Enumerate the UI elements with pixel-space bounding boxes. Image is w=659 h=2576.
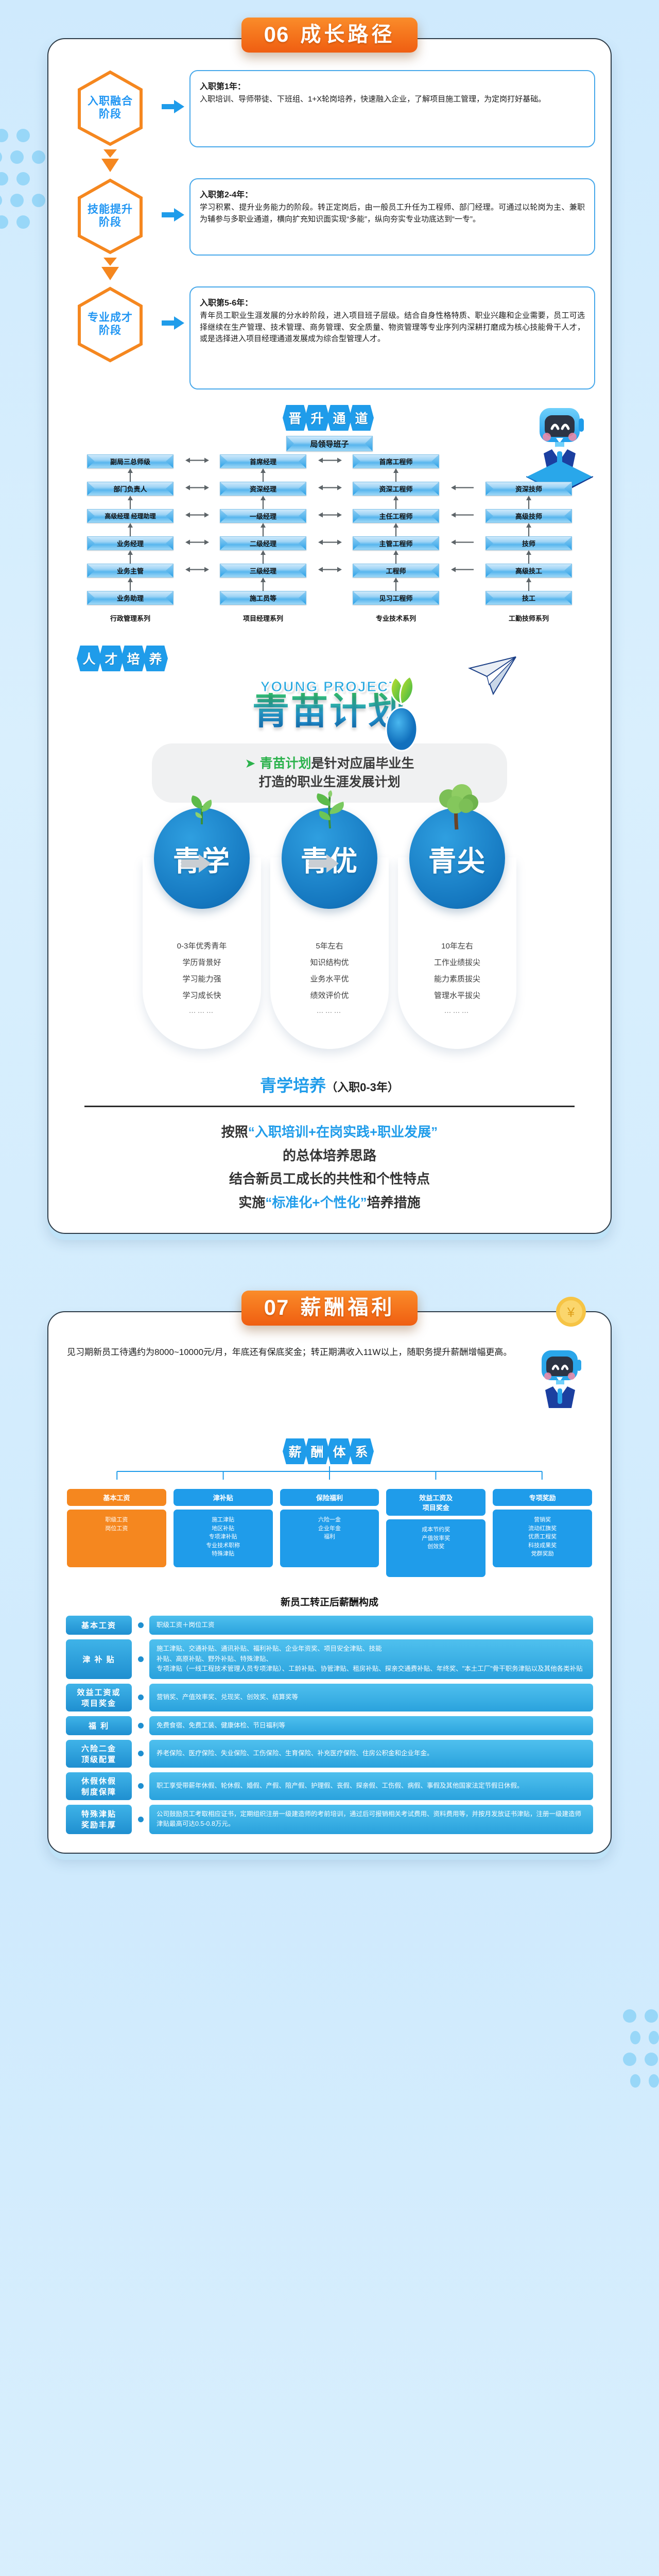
ladder-row: 高级经理 经理助理 一级经理 主任工程师 高级技师 <box>64 509 595 523</box>
ladder-cell: 业务主管 <box>64 564 197 578</box>
section-06-badge-wrap: 06 成长路径 <box>0 18 659 53</box>
stage-1-heading: 入职第1年： <box>200 79 585 92</box>
table-row-label: 休假休假 制度保障 <box>66 1772 132 1800</box>
qingxue-line1-highlight: “入职培训+在岗实践+职业发展” <box>248 1124 438 1140</box>
ladder-box: 副局三总师级 <box>87 454 174 468</box>
table-row: 津 补 贴 施工津贴、交通补贴、通讯补贴、福利补贴、企业年资奖、项目安全津贴、技… <box>66 1639 593 1679</box>
ladder-rows: 副局三总师级 首席经理 <box>64 454 595 605</box>
stage-1-text-box: 入职第1年： 入职培训、导师带徒、下班组、1+X轮岗培养，快速融入企业，了解项目… <box>189 70 595 147</box>
stage-2-text-box: 入职第2-4年： 学习积累、提升业务能力的阶段。转正定岗后，由一般员工升任为工程… <box>189 178 595 256</box>
ladder-box: 二级经理 <box>220 536 306 550</box>
hexagon-badge-1-label: 入职融合 阶段 <box>88 95 133 121</box>
hexagon-badge-2: 技能提升 阶段 <box>76 178 144 255</box>
stage-3-name-line1: 专业成才 <box>88 312 133 324</box>
chip-char: 通 <box>327 405 352 431</box>
pay-table-title: 新员工转正后薪酬构成 <box>64 1595 595 1608</box>
ladder-box: 首席工程师 <box>353 454 439 468</box>
ladder-connector-up <box>462 496 595 509</box>
level-line: 管理水平拔尖 <box>403 990 511 1001</box>
ladder-box: 主管工程师 <box>353 536 439 550</box>
quote-highlight: 青苗计划 <box>259 756 311 771</box>
ladder-connector-up <box>329 550 462 564</box>
level-line: 5年左右 <box>275 940 384 951</box>
ladder-cell: 部门负责人 <box>64 482 197 496</box>
ladder-connector-up <box>64 496 197 509</box>
chip-char: 升 <box>305 405 329 431</box>
bullet-dot-icon <box>138 1817 144 1822</box>
qingxue-heading: 青学培养（入职0-3年） <box>64 1073 595 1096</box>
table-row: 基本工资 职级工资＋岗位工资 <box>66 1616 593 1635</box>
qingxue-line-4: 实施“标准化+个性化”培养措施 <box>64 1191 595 1215</box>
section-growth-path: 06 成长路径 入职融合 阶段 <box>0 0 659 1234</box>
chevron-down-icon <box>101 267 119 280</box>
table-row-label: 津 补 贴 <box>66 1639 132 1679</box>
arrow-bullet-icon: ➤ <box>245 756 256 771</box>
talent-level-2: 青优 5年左右 知识结构优 业务水平优 绩效评价优 ……… <box>270 808 389 1049</box>
ladder-cell: 技师 <box>462 536 595 550</box>
stage-3-text-box: 入职第5-6年： 青年员工职业生涯发展的分水岭阶段，进入项目班子层级。结合自身性… <box>189 286 595 389</box>
arrow-up-icon <box>393 550 399 564</box>
chip-char: 培 <box>121 646 146 671</box>
seedling-svg <box>181 790 222 826</box>
qingxue-line4-highlight: “标准化+个性化” <box>265 1195 367 1210</box>
ladder-cell: 主任工程师 <box>329 509 462 523</box>
table-row: 特殊津贴 奖励丰厚 公司鼓励员工考取相应证书，定期组织注册一级建造师的考前培训，… <box>66 1805 593 1834</box>
pay-column: 效益工资及 项目奖金 成本节约奖 产值效率奖 创效奖 <box>386 1489 485 1577</box>
table-row-detail: 公司鼓励员工考取相应证书，定期组织注册一级建造师的考前培训，通过后可报销相关考试… <box>149 1805 593 1834</box>
section-salary-benefits: 07 薪酬福利 ¥ 见习期新员工待遇约为8000~10000元/月，年底还有保底… <box>0 1234 659 1874</box>
qingxue-line-1: 按照“入职培训+在岗实践+职业发展” <box>64 1121 595 1144</box>
ladder-cell: 高级技工 <box>462 564 595 578</box>
pay-column: 津补贴 施工津贴 地区补贴 专项津补贴 专业技术职称 特殊津贴 <box>174 1489 273 1577</box>
pay-column-caption: 保险福利 <box>280 1489 379 1506</box>
young-project-cn: 青苗计划 <box>64 693 595 730</box>
ladder-connector-up <box>462 523 595 536</box>
qingxue-line4-post: 培养措施 <box>367 1195 421 1210</box>
arrow-up-icon <box>393 496 399 509</box>
level-line: 0-3年优秀青年 <box>148 940 256 951</box>
arrow-up-icon <box>526 496 532 509</box>
sprout-icon <box>378 674 425 754</box>
ladder-box: 高级技师 <box>485 509 572 523</box>
pay-system-columns: 基本工资 职级工资 岗位工资 津补贴 施工津贴 地区补贴 专项津补贴 专业技术职… <box>64 1489 595 1577</box>
stage-2-heading: 入职第2-4年： <box>200 188 585 200</box>
level-line: 学历背景好 <box>148 957 256 968</box>
ladder-connector-up <box>64 523 197 536</box>
pay-column-caption: 津补贴 <box>174 1489 273 1506</box>
arrow-up-icon <box>393 468 399 482</box>
arrow-right-icon <box>181 853 211 874</box>
row-connector <box>132 1772 149 1800</box>
table-row: 福 利 免费食宿、免费工装、健康体检、节日福利等 <box>66 1716 593 1735</box>
row-connector <box>132 1684 149 1711</box>
qingxue-line1-pre: 按照 <box>221 1124 248 1140</box>
table-row-label: 六险二金 顶级配置 <box>66 1740 132 1768</box>
ladder-cell: 见习工程师 <box>329 591 462 605</box>
promotion-ladder: 局领导班子 副局三总师级 首席经理 <box>64 436 595 623</box>
ladder-connector-up <box>197 550 329 564</box>
quote-rest: 是针对应届毕业生 <box>311 756 414 771</box>
table-row-label: 福 利 <box>66 1716 132 1735</box>
ladder-connector-up <box>329 468 462 482</box>
level-line: 工作业绩拔尖 <box>403 957 511 968</box>
ladder-box: 工程师 <box>353 564 439 578</box>
arrow-right-icon <box>309 853 339 874</box>
divider <box>84 1106 575 1107</box>
ladder-cell: 施工员等 <box>197 591 329 605</box>
sprout-svg <box>378 674 425 752</box>
section-07-number: 07 <box>264 1297 289 1318</box>
chevron-down-icon <box>103 258 117 266</box>
footer-space <box>0 1854 659 1874</box>
ladder-box: 高级经理 经理助理 <box>87 509 174 523</box>
arrow-up-icon <box>127 523 133 536</box>
ladder-box: 见习工程师 <box>353 591 439 605</box>
tree-connector-svg <box>64 1466 595 1480</box>
ladder-gap-empty <box>462 468 595 482</box>
stage-3-heading: 入职第5-6年： <box>200 296 585 308</box>
stage-2-name-line1: 技能提升 <box>88 204 133 215</box>
ladder-gap-row <box>64 496 595 509</box>
ladder-cell: 高级技师 <box>462 509 595 523</box>
ladder-cell: 技工 <box>462 591 595 605</box>
coin-svg: ¥ <box>555 1296 587 1328</box>
ladder-box: 首席经理 <box>220 454 306 468</box>
salary-card: 见习期新员工待遇约为8000~10000元/月，年底还有保底奖金；转正期满收入1… <box>47 1311 612 1854</box>
ladder-connector-up <box>64 578 197 591</box>
ladder-box: 业务助理 <box>87 591 174 605</box>
level-line: 学习成长快 <box>148 990 256 1001</box>
ladder-box: 资深工程师 <box>353 482 439 496</box>
table-row-label: 特殊津贴 奖励丰厚 <box>66 1805 132 1834</box>
ladder-connector-up <box>329 523 462 536</box>
series-label: 项目经理系列 <box>197 613 329 623</box>
ladder-connector-up <box>462 578 595 591</box>
ladder-cell: 一级经理 <box>197 509 329 523</box>
ladder-cell: 业务助理 <box>64 591 197 605</box>
ladder-connector-up <box>197 468 329 482</box>
coin-icon: ¥ <box>555 1296 587 1330</box>
ladder-cell: 资深工程师 <box>329 482 462 496</box>
qingxue-title-sub: （入职0-3年） <box>326 1081 399 1094</box>
pay-tree-connector <box>64 1466 595 1480</box>
talent-level-3-title: 青尖 <box>428 838 486 879</box>
section-06-badge: 06 成长路径 <box>241 18 418 53</box>
talent-level-1: 青学 0-3年优秀青年 学历背景好 学习能力强 学习成长快 ……… <box>143 808 261 1049</box>
stage-3-body: 青年员工职业生涯发展的分水岭阶段，进入项目班子层级。结合自身性格特质、职业兴趣和… <box>200 310 585 345</box>
growth-stage-row-2: 技能提升 阶段 入职第2-4年： 学习积累、提升业务能力的阶段。转正定岗后，由一… <box>64 178 595 283</box>
arrow-right-icon <box>162 207 184 223</box>
row-connector <box>132 1805 149 1834</box>
chip-char: 酬 <box>305 1438 329 1464</box>
ladder-cell: 三级经理 <box>197 564 329 578</box>
table-row-label: 效益工资或 项目奖金 <box>66 1684 132 1711</box>
qingxue-title: 青学培养 <box>260 1076 326 1095</box>
arrow-right-icon <box>162 315 184 331</box>
pay-column-body: 职级工资 岗位工资 <box>67 1510 166 1567</box>
bullet-dot-icon <box>138 1783 144 1789</box>
ladder-box: 资深经理 <box>220 482 306 496</box>
ladder-connector-up <box>329 578 462 591</box>
chip-char: 薪 <box>283 1438 307 1464</box>
ladder-box: 主任工程师 <box>353 509 439 523</box>
arrow-up-icon <box>260 578 266 591</box>
arrow-up-icon <box>526 523 532 536</box>
chevron-down-icon <box>103 149 117 158</box>
quote-line-1: ➤青苗计划是针对应届毕业生 <box>167 755 492 773</box>
growth-stage-col-1: 入职融合 阶段 <box>64 70 157 175</box>
pay-column: 保险福利 六险一金 企业年金 福利 <box>280 1489 379 1577</box>
series-label: 工勤技师系列 <box>462 613 595 623</box>
stage-2-name-line2: 阶段 <box>99 216 122 228</box>
ladder-cell: 首席经理 <box>197 454 329 468</box>
salary-intro-row: 见习期新员工待遇约为8000~10000元/月，年底还有保底奖金；转正期满收入1… <box>64 1343 595 1425</box>
ladder-box: 一级经理 <box>220 509 306 523</box>
talent-level-3: 青尖 10年左右 工作业绩拔尖 能力素质拔尖 管理水平拔尖 ……… <box>398 808 516 1049</box>
pay-column-caption: 效益工资及 项目奖金 <box>386 1489 485 1516</box>
ladder-box: 技工 <box>485 591 572 605</box>
chip-char: 系 <box>349 1438 374 1464</box>
hexagon-badge-3-label: 专业成才 阶段 <box>88 312 133 337</box>
ladder-gap-row <box>64 550 595 564</box>
arrow-right-icon <box>162 99 184 114</box>
pay-column-body: 六险一金 企业年金 福利 <box>280 1510 379 1567</box>
growth-stage-col-2: 技能提升 阶段 <box>64 178 157 283</box>
sprout-medium-svg <box>306 790 353 831</box>
qingxue-line4-pre: 实施 <box>238 1195 265 1210</box>
tree-svg <box>430 781 484 831</box>
ladder-connector-up <box>197 578 329 591</box>
stage-1-body: 入职培训、导师带徒、下班组、1+X轮岗培养，快速融入企业，了解项目施工管理，为定… <box>200 94 585 106</box>
pay-column: 基本工资 职级工资 岗位工资 <box>67 1489 166 1577</box>
table-row-detail: 职工享受带薪年休假、轮休假、婚假、产假、陪产假、护理假、丧假、探亲假、工伤假、病… <box>149 1772 593 1800</box>
ladder-box: 业务经理 <box>87 536 174 550</box>
arrow-up-icon <box>260 550 266 564</box>
ladder-cell: 资深经理 <box>197 482 329 496</box>
row-connector <box>132 1740 149 1768</box>
stage-down-arrows-2 <box>101 258 119 281</box>
stage-1-name-line1: 入职融合 <box>88 95 133 107</box>
arrow-up-icon <box>526 550 532 564</box>
ladder-cell: 工程师 <box>329 564 462 578</box>
ladder-cell: 资深技师 <box>462 482 595 496</box>
pay-column-caption: 基本工资 <box>67 1489 166 1506</box>
pay-system-chip-title: 薪 酬 体 系 <box>64 1438 595 1464</box>
arrow-up-icon <box>260 496 266 509</box>
stage-arrow-1 <box>157 70 189 114</box>
level-line: 能力素质拔尖 <box>403 973 511 984</box>
bullet-dot-icon <box>138 1622 144 1628</box>
series-label: 行政管理系列 <box>64 613 197 623</box>
stage-arrow-2 <box>157 178 189 223</box>
ladder-row: 副局三总师级 首席经理 <box>64 454 595 468</box>
level-ellipsis: ……… <box>403 1006 511 1014</box>
bullet-dot-icon <box>138 1656 144 1662</box>
robot-mascot-2 <box>530 1345 592 1425</box>
talent-chip-title: 人 才 培 养 <box>79 646 168 671</box>
bullet-dot-icon <box>138 1751 144 1756</box>
ladder-connector-up <box>197 496 329 509</box>
hexagon-badge-1: 入职融合 阶段 <box>76 70 144 146</box>
growth-stage-col-3: 专业成才 阶段 <box>64 286 157 363</box>
section-06-number: 06 <box>264 24 289 45</box>
ladder-cell: 主管工程师 <box>329 536 462 550</box>
qingxue-title-row: 青学培养（入职0-3年） <box>64 1073 595 1096</box>
stage-down-arrows-1 <box>101 149 119 173</box>
table-row: 效益工资或 项目奖金 营销奖、产值效率奖、兑现奖、创效奖、结算奖等 <box>66 1684 593 1711</box>
chip-char: 道 <box>349 405 374 431</box>
ladder-cell: 副局三总师级 <box>64 454 197 468</box>
ladder-box: 业务主管 <box>87 564 174 578</box>
hexagon-badge-2-label: 技能提升 阶段 <box>88 204 133 229</box>
arrow-up-icon <box>393 578 399 591</box>
level-ellipsis: ……… <box>148 1006 256 1014</box>
arrow-up-icon <box>260 468 266 482</box>
ladder-connector-up <box>64 468 197 482</box>
ladder-cell: 业务经理 <box>64 536 197 550</box>
growth-path-card: 入职融合 阶段 入职第1年： 入职培训、导师带徒、下班组、1+X轮岗培养，快速融… <box>47 38 612 1234</box>
series-label: 专业技术系列 <box>329 613 462 623</box>
ladder-gap-row <box>64 523 595 536</box>
arrow-up-icon <box>127 468 133 482</box>
arrow-up-icon <box>526 578 532 591</box>
row-connector <box>132 1716 149 1735</box>
robot-icon <box>530 1345 591 1422</box>
row-connector <box>132 1639 149 1679</box>
ladder-connector-up <box>462 550 595 564</box>
bullet-dot-icon <box>138 1694 144 1700</box>
decorative-dots-right <box>602 2009 659 2096</box>
chip-char: 才 <box>99 646 124 671</box>
table-row-detail: 职级工资＋岗位工资 <box>149 1616 593 1635</box>
arrow-up-icon <box>260 523 266 536</box>
ladder-box: 技师 <box>485 536 572 550</box>
bullet-dot-icon <box>138 1723 144 1728</box>
pay-composition-table: 基本工资 职级工资＋岗位工资 津 补 贴 施工津贴、交通补贴、通讯补贴、福利补贴… <box>64 1616 595 1834</box>
level-line: 业务水平优 <box>275 973 384 984</box>
qingxue-line-2: 的总体培养思路 <box>64 1144 595 1168</box>
ladder-row: 业务主管 三级经理 工程师 高级技工 <box>64 564 595 578</box>
row-connector <box>132 1616 149 1635</box>
arrow-up-icon <box>127 578 133 591</box>
chip-char: 人 <box>77 646 101 671</box>
ladder-row: 业务经理 二级经理 主管工程师 技师 <box>64 536 595 550</box>
ladder-box: 施工员等 <box>220 591 306 605</box>
table-row: 休假休假 制度保障 职工享受带薪年休假、轮休假、婚假、产假、陪产假、护理假、丧假… <box>66 1772 593 1800</box>
ladder-connector-up <box>64 550 197 564</box>
growth-stage-row-1: 入职融合 阶段 入职第1年： 入职培训、导师带徒、下班组、1+X轮岗培养，快速融… <box>64 70 595 175</box>
talent-arrow-1 <box>181 853 211 876</box>
level-line: 知识结构优 <box>275 957 384 968</box>
hexagon-badge-3: 专业成才 阶段 <box>76 286 144 363</box>
ladder-box-top: 局领导班子 <box>286 436 373 451</box>
pay-column: 专项奖励 营销奖 流动红旗奖 优质工程奖 科技成果奖 党群奖励 <box>493 1489 592 1577</box>
growth-stage-row-3: 专业成才 阶段 入职第5-6年： 青年员工职业生涯发展的分水岭阶段，进入项目班子… <box>64 286 595 389</box>
ladder-box: 部门负责人 <box>87 482 174 496</box>
section-07-title: 薪酬福利 <box>300 1297 395 1318</box>
qingxue-line-3: 结合新员工成长的共性和个性特点 <box>64 1167 595 1191</box>
table-row-label: 基本工资 <box>66 1616 132 1635</box>
stage-3-name-line2: 阶段 <box>99 325 122 336</box>
ladder-top-row: 局领导班子 <box>64 436 595 451</box>
seedling-small-icon <box>181 790 222 829</box>
pay-column-body: 营销奖 流动红旗奖 优质工程奖 科技成果奖 党群奖励 <box>493 1510 592 1567</box>
table-row: 六险二金 顶级配置 养老保险、医疗保险、失业保险、工伤保险、生育保险、补充医疗保… <box>66 1740 593 1768</box>
arrow-up-icon <box>127 496 133 509</box>
talent-arrow-2 <box>309 853 339 876</box>
salary-intro-text: 见习期新员工待遇约为8000~10000元/月，年底还有保底奖金；转正期满收入1… <box>67 1345 521 1360</box>
arrow-up-icon <box>127 550 133 564</box>
talent-levels: 青学 0-3年优秀青年 学历背景好 学习能力强 学习成长快 ……… <box>64 808 595 1049</box>
stage-1-name-line2: 阶段 <box>99 108 122 120</box>
table-row-detail: 营销奖、产值效率奖、兑现奖、创效奖、结算奖等 <box>149 1684 593 1711</box>
tree-icon <box>430 781 484 833</box>
ladder-box: 资深技师 <box>485 482 572 496</box>
ladder-gap-row <box>64 468 595 482</box>
ladder-cell: 首席工程师 <box>329 454 462 468</box>
chip-char: 晋 <box>283 405 307 431</box>
level-ellipsis: ……… <box>275 1006 384 1014</box>
pay-column-body: 施工津贴 地区补贴 专项津补贴 专业技术职称 特殊津贴 <box>174 1510 273 1567</box>
svg-text:¥: ¥ <box>567 1304 575 1320</box>
young-project-logo: YOUNG PROJECT 青苗计划 <box>64 671 595 730</box>
ladder-connector-up <box>197 523 329 536</box>
ladder-row: 部门负责人 资深经理 资深工程师 资深技师 <box>64 482 595 496</box>
stage-arrow-3 <box>157 286 189 331</box>
ladder-row: 业务助理 施工员等 见习工程师 技工 <box>64 591 595 605</box>
table-row-detail: 施工津贴、交通补贴、通讯补贴、福利补贴、企业年资奖、项目安全津贴、技能 补贴、高… <box>149 1639 593 1679</box>
section-07-badge-wrap: 07 薪酬福利 ¥ <box>0 1291 659 1326</box>
pay-column-caption: 专项奖励 <box>493 1489 592 1506</box>
section-07-badge: 07 薪酬福利 <box>241 1291 418 1326</box>
stage-2-body: 学习积累、提升业务能力的阶段。转正定岗后，由一般员工升任为工程师、部门经理。可通… <box>200 202 585 225</box>
qingxue-body: 按照“入职培训+在岗实践+职业发展” 的总体培养思路 结合新员工成长的共性和个性… <box>64 1121 595 1214</box>
ladder-gap-row <box>64 578 595 591</box>
ladder-box: 三级经理 <box>220 564 306 578</box>
level-line: 绩效评价优 <box>275 990 384 1001</box>
sprout-medium-icon <box>306 790 353 833</box>
ladder-connector-up <box>329 496 462 509</box>
ladder-box: 高级技工 <box>485 564 572 578</box>
ladder-series-labels: 行政管理系列 项目经理系列 专业技术系列 工勤技师系列 <box>64 613 595 623</box>
level-line: 10年左右 <box>403 940 511 951</box>
section-06-title: 成长路径 <box>300 24 395 45</box>
pay-column-body: 成本节约奖 产值效率奖 创效奖 <box>386 1519 485 1577</box>
chevron-down-icon <box>101 159 119 172</box>
ladder-cell: 高级经理 经理助理 <box>64 509 197 523</box>
chip-char: 体 <box>327 1438 352 1464</box>
arrow-up-icon <box>393 523 399 536</box>
ladder-cell: 二级经理 <box>197 536 329 550</box>
level-line: 学习能力强 <box>148 973 256 984</box>
chip-char: 养 <box>143 646 168 671</box>
table-row-detail: 免费食宿、免费工装、健康体检、节日福利等 <box>149 1716 593 1735</box>
table-row-detail: 养老保险、医疗保险、失业保险、工伤保险、生育保险、补充医疗保险、住房公积金和企业… <box>149 1740 593 1768</box>
promotion-channel-chip-title: 晋 升 通 道 <box>64 405 595 431</box>
